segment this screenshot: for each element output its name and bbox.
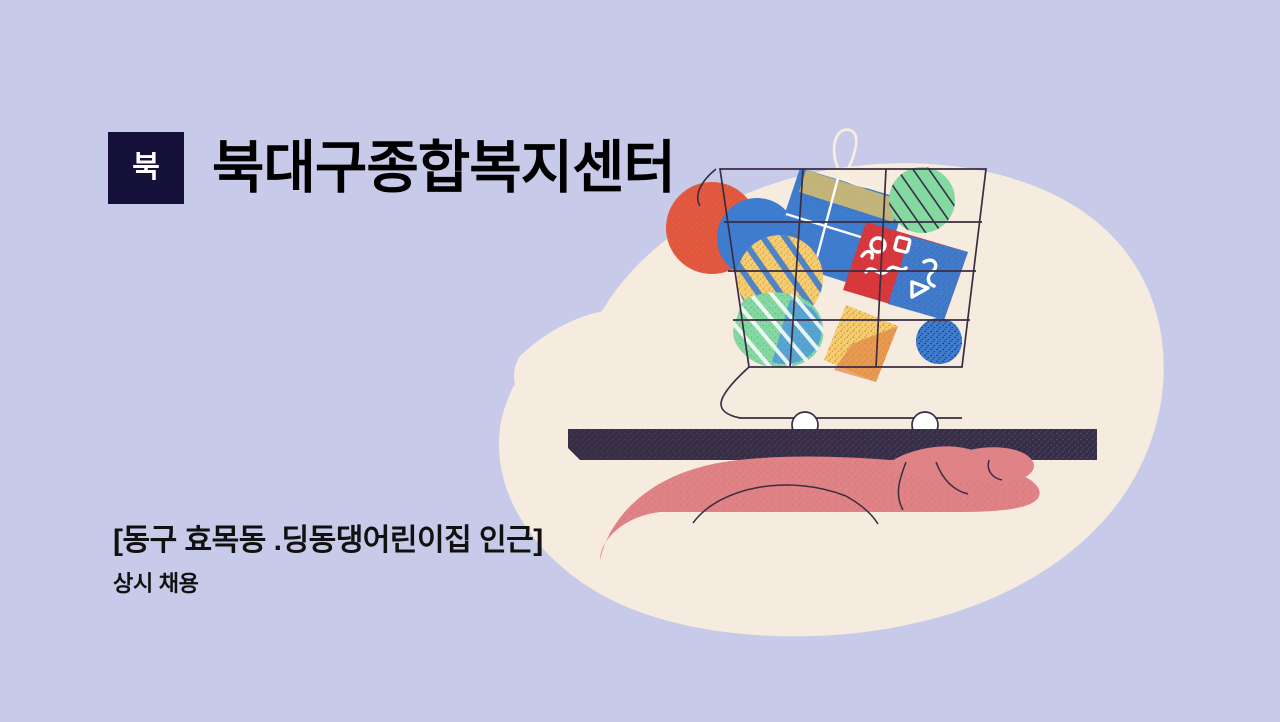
buk-logo-badge: 북: [108, 132, 184, 204]
posting-details: [동구 효목동 .딩동댕어린이집 인근] 상시 채용: [113, 522, 543, 598]
location-text: [동구 효목동 .딩동댕어린이집 인근]: [113, 522, 543, 560]
recruit-status-text: 상시 채용: [113, 571, 543, 597]
page-title: 북대구종합복지센터: [212, 140, 675, 197]
logo-badge-character: 북: [132, 153, 160, 183]
circle-green-hatched: [889, 167, 955, 233]
circle-blue-speckled: [916, 318, 962, 364]
header-row: 북 북대구종합복지센터: [108, 132, 675, 204]
job-posting-card: 북 북대구종합복지센터 [동구 효목동 .딩동댕어린이집 인근] 상시 채용: [0, 0, 1280, 722]
illustration-hand-holding-cart: [0, 0, 1280, 722]
